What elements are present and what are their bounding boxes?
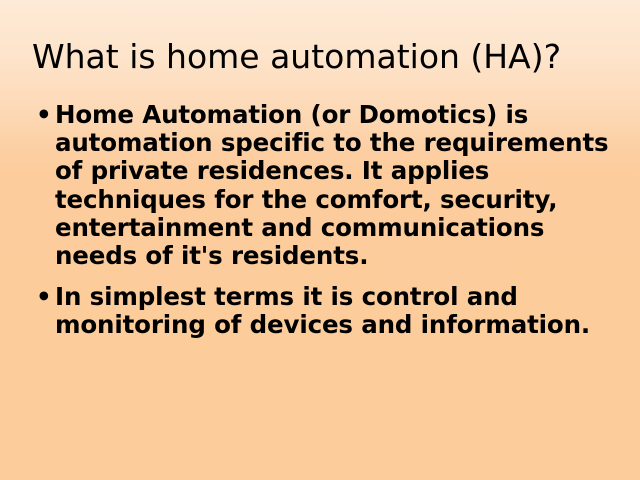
slide-body-content: • Home Automation (or Domotics) is autom… xyxy=(32,101,612,340)
bullet-point-icon: • xyxy=(36,101,52,129)
bullet-list-item: • Home Automation (or Domotics) is autom… xyxy=(32,101,612,270)
bullet-item-text: Home Automation (or Domotics) is automat… xyxy=(55,101,612,270)
bullet-item-text: In simplest terms it is control and moni… xyxy=(55,283,612,339)
presentation-slide: What is home automation (HA)? • Home Aut… xyxy=(0,0,640,480)
bullet-point-icon: • xyxy=(36,283,52,311)
slide-title: What is home automation (HA)? xyxy=(32,37,624,77)
bullet-list-item: • In simplest terms it is control and mo… xyxy=(32,283,612,339)
